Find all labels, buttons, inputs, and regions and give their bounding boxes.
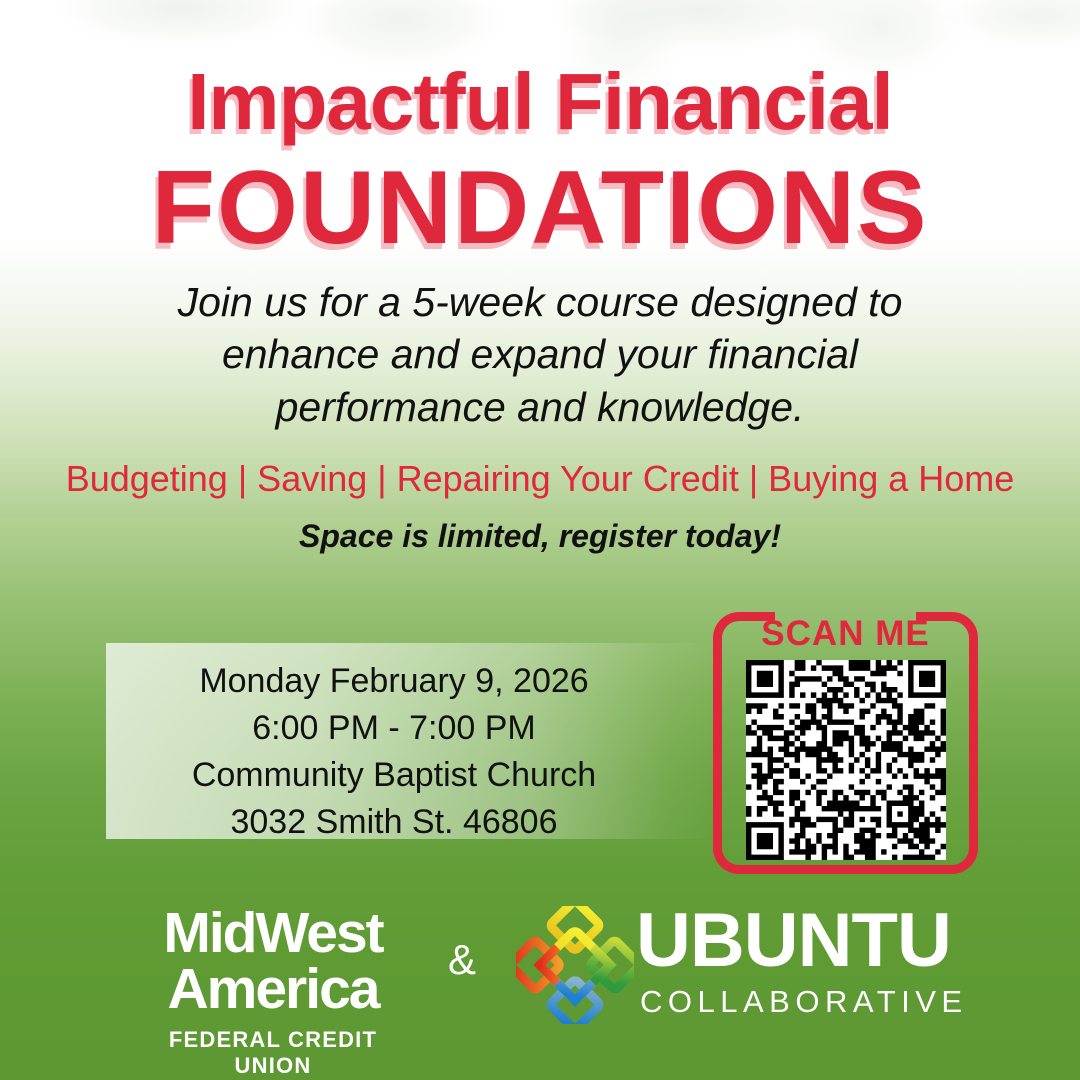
topics-list: Budgeting | Saving | Repairing Your Cred… — [0, 458, 1080, 500]
scan-me-label: SCAN ME — [713, 614, 978, 654]
subtitle-text: Join us for a 5-week course designed to … — [140, 276, 940, 433]
event-date: Monday February 9, 2026 — [106, 658, 682, 705]
event-address: 3032 Smith St. 46806 — [106, 799, 682, 846]
headline-block: Impactful Financial FOUNDATIONS — [0, 62, 1080, 260]
event-time: 6:00 PM - 7:00 PM — [106, 705, 682, 752]
ubuntu-collaborative-logo: UBUNTU COLLABORATIVE — [636, 904, 936, 1020]
headline-line-1: Impactful Financial — [0, 62, 1080, 142]
ampersand-separator: & — [432, 936, 492, 984]
endless-knot-icon — [516, 906, 634, 1024]
event-venue: Community Baptist Church — [106, 752, 682, 799]
mwa-logo-line-1: MidWest — [128, 906, 418, 962]
midwest-america-logo: MidWest America FEDERAL CREDIT UNION — [128, 906, 418, 1079]
qr-code-icon[interactable] — [746, 660, 946, 860]
mwa-logo-tagline: FEDERAL CREDIT UNION — [128, 1027, 418, 1079]
flyer-canvas: Impactful Financial FOUNDATIONS Join us … — [0, 0, 1080, 1080]
event-details-text: Monday February 9, 2026 6:00 PM - 7:00 P… — [106, 658, 682, 846]
ubuntu-logo-line-1: UBUNTU — [636, 904, 936, 978]
headline-line-2: FOUNDATIONS — [0, 156, 1080, 260]
ubuntu-logo-line-2: COLLABORATIVE — [636, 984, 936, 1020]
urgency-text: Space is limited, register today! — [0, 518, 1080, 555]
qr-block[interactable]: SCAN ME — [713, 612, 978, 874]
mwa-logo-line-2: America — [128, 962, 418, 1018]
